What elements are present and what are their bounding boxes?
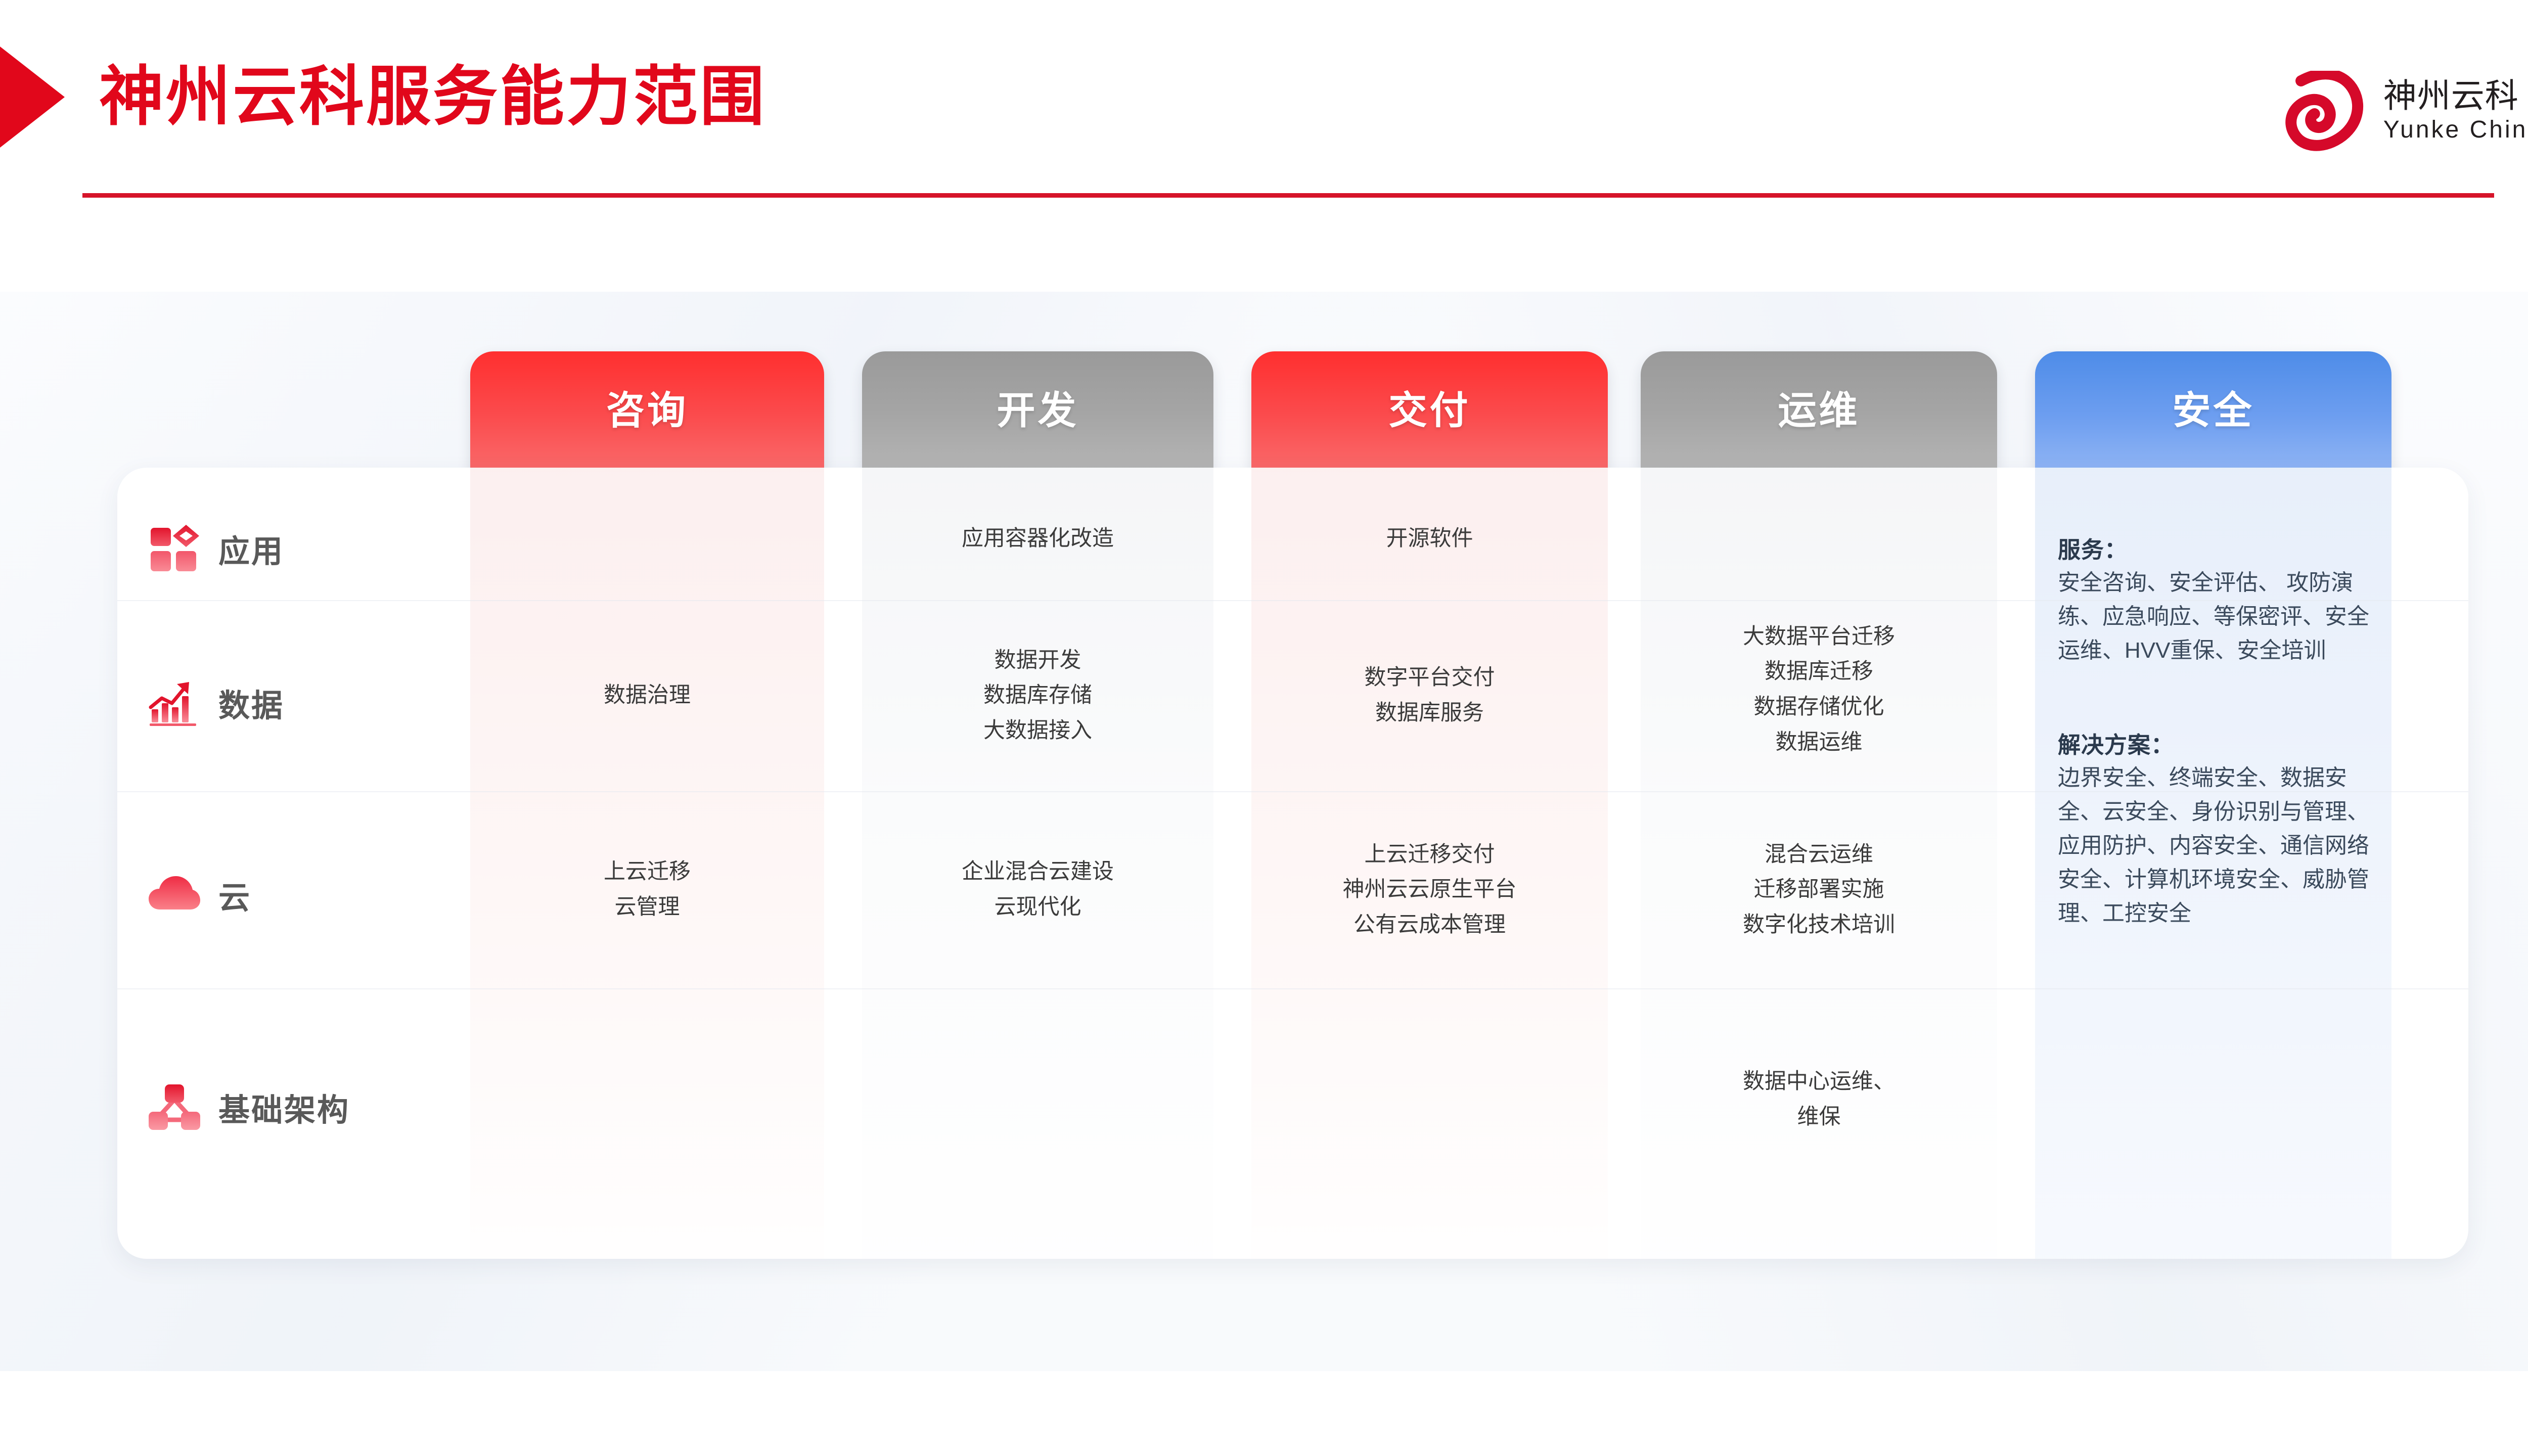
cell-line: 维保 xyxy=(1797,1100,1841,1135)
cell-line: 数据开发 xyxy=(995,643,1081,678)
column-header-label: 开发 xyxy=(997,392,1079,430)
column-header-label: 安全 xyxy=(2173,392,2254,430)
cell-line: 数据存储优化 xyxy=(1754,690,1884,725)
security-services-body: 安全咨询、安全评估、 攻防演练、应急响应、等保密评、安全运维、HVV重保、安全培… xyxy=(2058,566,2371,668)
cell-line: 数据库迁移 xyxy=(1765,654,1873,690)
security-solutions-title: 解决方案： xyxy=(2058,729,2371,761)
cell-line: 数据运维 xyxy=(1776,725,1863,760)
logo-wordmark: 神州云科 Yunke China xyxy=(2383,77,2528,145)
logo-name-cn: 神州云科 xyxy=(2383,77,2528,115)
app-blocks-icon xyxy=(148,522,201,575)
row-label-text: 云 xyxy=(218,872,251,918)
row-label-text: 数据 xyxy=(218,680,284,725)
cell-application-consulting xyxy=(470,478,824,600)
cell-cloud-consulting: 上云迁移 云管理 xyxy=(470,791,824,988)
cell-data-operations: 大数据平台迁移 数据库迁移 数据存储优化 数据运维 xyxy=(1641,594,1997,785)
header-divider xyxy=(82,193,2494,198)
cell-cloud-development: 企业混合云建设 云现代化 xyxy=(862,791,1213,988)
cell-line: 开源软件 xyxy=(1386,521,1473,557)
company-logo: 神州云科 Yunke China xyxy=(2269,71,2528,152)
cell-line: 云现代化 xyxy=(995,890,1081,925)
cell-line: 数据库存储 xyxy=(983,678,1092,713)
column-header-label: 交付 xyxy=(1389,392,1471,430)
cell-data-development: 数据开发 数据库存储 大数据接入 xyxy=(862,600,1213,791)
cell-infrastructure-delivery xyxy=(1251,988,1608,1211)
security-services-title: 服务： xyxy=(2058,533,2371,566)
cell-line: 上云迁移交付 xyxy=(1365,837,1495,873)
matrix-card: 应用 数据 xyxy=(117,468,2468,1259)
column-header-delivery[interactable]: 交付 xyxy=(1251,351,1608,470)
cell-line: 数据中心运维、 xyxy=(1743,1064,1895,1100)
column-header-label: 运维 xyxy=(1778,392,1860,430)
cell-line: 数据治理 xyxy=(604,678,691,713)
page-title: 神州云科服务能力范围 xyxy=(99,60,766,134)
header-arrow-icon xyxy=(0,47,65,148)
security-column-content: 服务： 安全咨询、安全评估、 攻防演练、应急响应、等保密评、安全运维、HVV重保… xyxy=(2058,533,2371,931)
column-header-operations[interactable]: 运维 xyxy=(1641,351,1997,470)
column-header-consulting[interactable]: 咨询 xyxy=(470,351,824,470)
cell-data-delivery: 数字平台交付 数据库服务 xyxy=(1251,600,1608,791)
security-solutions-body: 边界安全、终端安全、数据安全、云安全、身份识别与管理、应用防护、内容安全、通信网… xyxy=(2058,761,2371,930)
cell-line: 大数据平台迁移 xyxy=(1743,619,1895,655)
cell-line: 数字化技术培训 xyxy=(1743,907,1895,943)
cell-line: 上云迁移 xyxy=(604,854,691,890)
cell-line: 应用容器化改造 xyxy=(962,521,1114,557)
row-label-cloud: 云 xyxy=(148,804,471,986)
cell-line: 数据库服务 xyxy=(1375,696,1484,731)
yunke-swirl-logo-icon xyxy=(2269,71,2365,152)
row-label-infrastructure: 基础架构 xyxy=(148,1001,471,1213)
cell-application-development: 应用容器化改造 xyxy=(862,478,1213,600)
cell-line: 神州云云原生平台 xyxy=(1343,872,1517,907)
security-block-spacer xyxy=(2058,668,2371,729)
column-header-development[interactable]: 开发 xyxy=(862,351,1213,470)
cell-application-delivery: 开源软件 xyxy=(1251,478,1608,600)
cell-line: 数字平台交付 xyxy=(1365,660,1495,696)
cell-line: 大数据接入 xyxy=(983,713,1092,749)
column-header-security[interactable]: 安全 xyxy=(2035,351,2391,470)
cell-data-consulting: 数据治理 xyxy=(470,600,824,791)
cloud-icon xyxy=(148,868,201,922)
cell-cloud-delivery: 上云迁移交付 神州云云原生平台 公有云成本管理 xyxy=(1251,791,1608,988)
cell-infrastructure-development xyxy=(862,988,1213,1211)
bar-chart-growth-icon xyxy=(148,676,201,730)
logo-name-en: Yunke China xyxy=(2383,115,2528,145)
column-header-label: 咨询 xyxy=(606,392,688,430)
slide-header: 神州云科服务能力范围 神州云科 Yunke China xyxy=(0,0,2528,212)
row-label-application: 应用 xyxy=(148,498,471,599)
network-nodes-icon xyxy=(148,1080,201,1134)
row-label-text: 基础架构 xyxy=(218,1084,350,1130)
cell-cloud-operations: 混合云运维 迁移部署实施 数字化技术培训 xyxy=(1641,791,1997,988)
cell-application-operations xyxy=(1641,478,1997,600)
cell-infrastructure-consulting xyxy=(470,988,824,1211)
cell-infrastructure-operations: 数据中心运维、 维保 xyxy=(1641,988,1997,1211)
cell-line: 迁移部署实施 xyxy=(1754,872,1884,907)
row-label-text: 应用 xyxy=(218,526,284,571)
row-label-data: 数据 xyxy=(148,614,471,791)
cell-line: 公有云成本管理 xyxy=(1353,907,1506,943)
cell-line: 云管理 xyxy=(615,890,680,925)
cell-line: 企业混合云建设 xyxy=(962,854,1114,890)
cell-line: 混合云运维 xyxy=(1765,837,1873,873)
